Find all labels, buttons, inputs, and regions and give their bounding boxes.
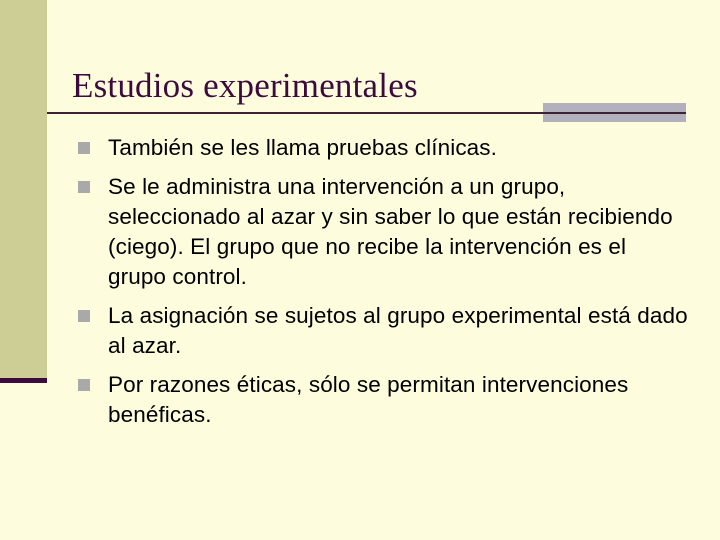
list-item: La asignación se sujetos al grupo experi…	[78, 301, 688, 361]
square-bullet-icon	[78, 181, 90, 193]
list-item-text: La asignación se sujetos al grupo experi…	[108, 301, 688, 361]
square-bullet-icon	[78, 379, 90, 391]
list-item-text: Se le administra una intervención a un g…	[108, 172, 688, 292]
square-bullet-icon	[78, 310, 90, 322]
list-item: Se le administra una intervención a un g…	[78, 172, 688, 292]
sidebar-accent-bar	[0, 378, 47, 383]
presentation-slide: Estudios experimentales También se les l…	[0, 0, 720, 540]
sidebar-decoration-band	[0, 0, 47, 378]
square-bullet-icon	[78, 142, 90, 154]
list-item: Por razones éticas, sólo se permitan int…	[78, 370, 688, 430]
list-item: También se les llama pruebas clínicas.	[78, 133, 688, 163]
title-divider-rule	[47, 112, 686, 114]
page-title: Estudios experimentales	[72, 65, 672, 107]
bullet-list: También se les llama pruebas clínicas. S…	[78, 133, 688, 430]
list-item-text: También se les llama pruebas clínicas.	[108, 133, 688, 163]
list-item-text: Por razones éticas, sólo se permitan int…	[108, 370, 688, 430]
